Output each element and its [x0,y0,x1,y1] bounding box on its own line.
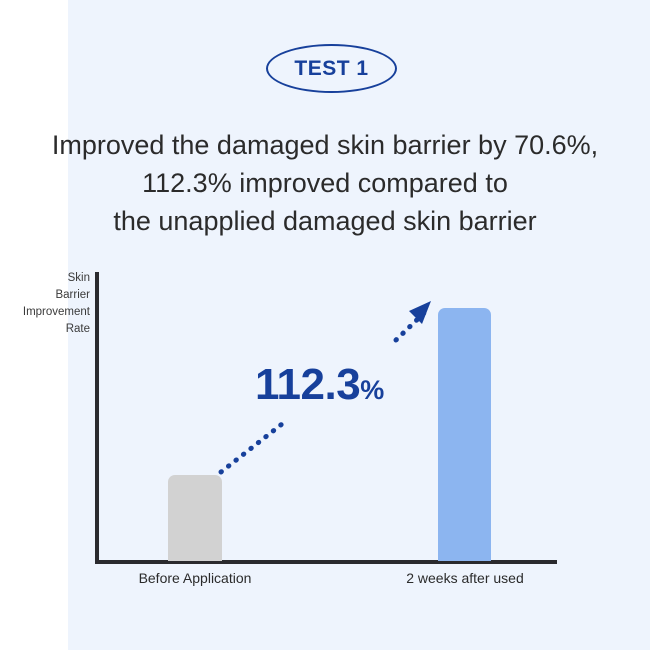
y-axis-label-line-2: Barrier [2,287,90,304]
infographic-root: TEST 1 Improved the damaged skin barrier… [0,0,650,650]
bar-two-weeks-after [438,308,491,561]
y-axis-label-line-4: Rate [2,321,90,338]
y-axis-label: Skin Barrier Improvement Rate [2,270,90,338]
y-axis-label-line-1: Skin [2,270,90,287]
improvement-callout-number: 112.3 [255,360,360,409]
improvement-callout-unit: % [360,375,384,405]
x-axis-label-after: 2 weeks after used [360,570,570,586]
improvement-callout: 112.3% [255,363,384,407]
y-axis-label-line-3: Improvement [2,304,90,321]
x-axis-label-before: Before Application [90,570,300,586]
bar-before-application [168,475,222,561]
y-axis-line [95,272,99,564]
bar-chart: Skin Barrier Improvement Rate 112.3% Bef… [0,0,650,650]
